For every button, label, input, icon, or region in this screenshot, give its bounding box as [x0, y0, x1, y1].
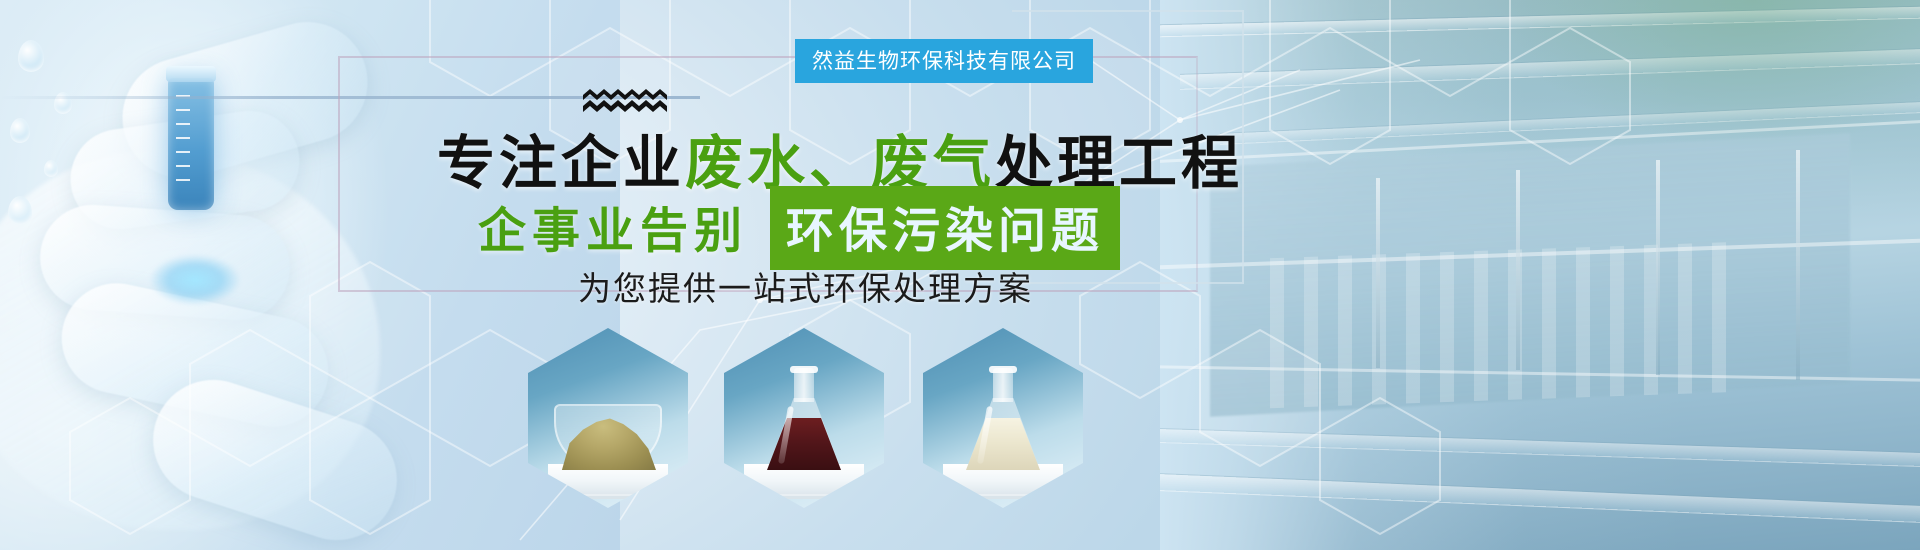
subheadline-prefix: 企事业告别	[478, 203, 748, 259]
subtitle: 为您提供一站式环保处理方案	[578, 262, 1033, 310]
subheadline: 企事业告别环保污染问题	[478, 186, 1120, 270]
flask-lip	[790, 366, 818, 373]
company-name-tag: 然益生物环保科技有限公司	[795, 39, 1093, 83]
subheadline-highlight-box: 环保污染问题	[770, 186, 1120, 270]
test-tube-graduations	[176, 95, 190, 187]
water-droplet	[44, 160, 58, 177]
promo-banner: 然益生物环保科技有限公司 专注企业废水、废气处理工程 企事业告别环保污染问题 为…	[0, 0, 1920, 550]
water-droplet	[18, 40, 44, 72]
plant-post	[1656, 160, 1660, 375]
water-droplet	[10, 118, 30, 143]
flask-neck	[993, 368, 1013, 402]
flask-neck	[794, 368, 814, 402]
foliage-tint	[1500, 0, 1920, 150]
test-tube-glow	[150, 255, 240, 305]
treatment-tank	[1160, 474, 1920, 522]
plant-post	[1796, 150, 1800, 380]
zigzag-wave-icon	[583, 88, 669, 116]
erlenmeyer-flask	[966, 368, 1040, 470]
erlenmeyer-flask	[767, 368, 841, 470]
plant-walkway	[1270, 242, 1740, 408]
test-tube-cap	[166, 66, 216, 82]
treatment-tank	[1160, 429, 1920, 466]
plant-post	[1516, 170, 1520, 370]
wastewater-plant-photo	[1160, 0, 1920, 550]
water-droplet	[8, 196, 32, 225]
flask-lip	[989, 366, 1017, 373]
plant-post	[1376, 178, 1380, 368]
